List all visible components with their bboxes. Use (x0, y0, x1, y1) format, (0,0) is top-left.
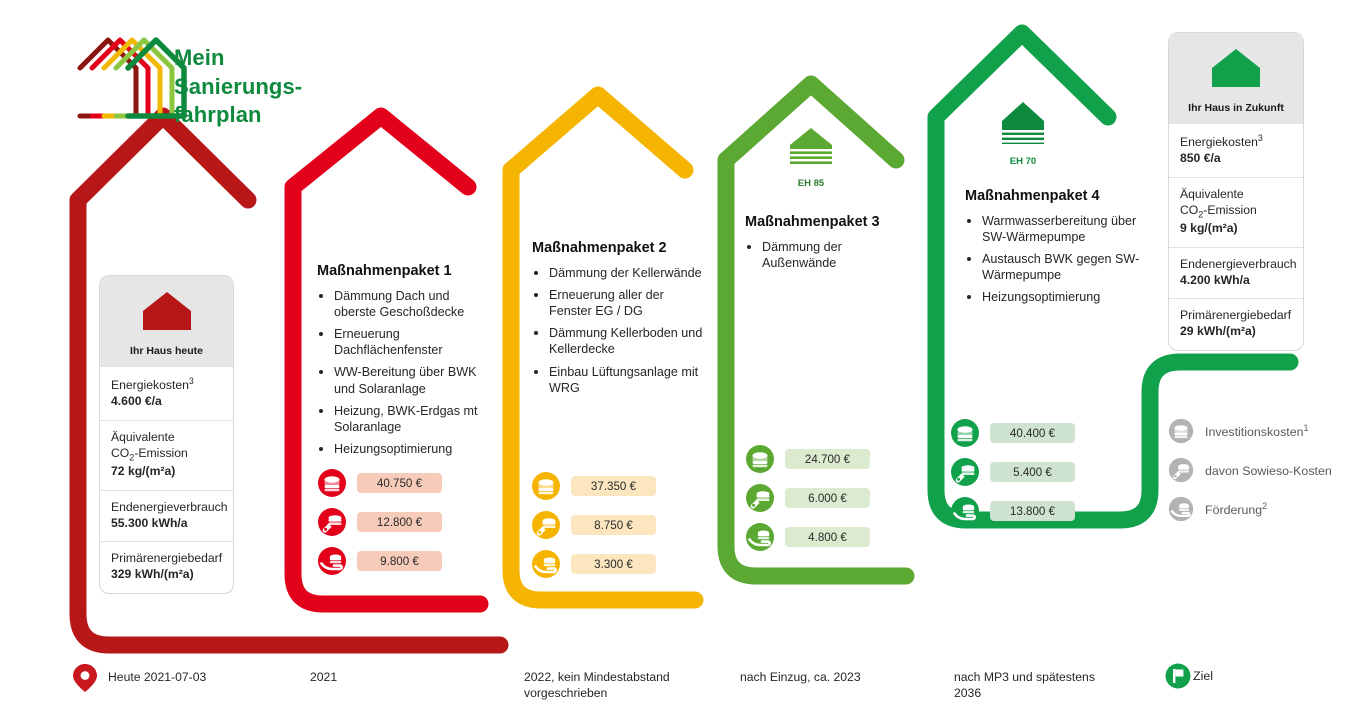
cost-row-sowieso: 5.400 € (950, 457, 1075, 487)
package-mp3: Maßnahmenpaket 3 Dämmung der Außenwände (745, 214, 910, 277)
logo-line-3: fahrplan (174, 101, 302, 130)
costs-mp3: 24.700 € 6.000 € 4.800 € (745, 444, 870, 561)
cost-row-sowieso: 12.800 € (317, 507, 442, 537)
wrench-coins-icon (745, 483, 775, 513)
row-label: Endenergieverbrauch (1180, 257, 1297, 271)
list-item: Dämmung Dach und oberste Geschoßdecke (317, 288, 482, 320)
row-label: Äquivalente (111, 430, 175, 444)
legend-label: Förderung2 (1205, 501, 1267, 517)
package-item-list: Dämmung Dach und oberste Geschoßdecke Er… (317, 288, 482, 457)
card-house-today: Ihr Haus heute Energiekosten3 4.600 €/a … (99, 275, 234, 594)
list-item: Erneuerung Dachflächenfenster (317, 326, 482, 358)
package-title: Maßnahmenpaket 2 (532, 240, 704, 256)
card-row-energiekosten: Energiekosten3 850 €/a (1169, 123, 1303, 177)
row-label-emission: -Emission (134, 446, 188, 460)
cost-row-foerderung: 13.800 € (950, 496, 1075, 526)
card-title: Ihr Haus in Zukunft (1177, 102, 1295, 114)
timeline-label-2036: nach MP3 und spätestens 2036 (954, 669, 1114, 701)
location-pin-icon (72, 663, 98, 693)
card-header: Ihr Haus heute (100, 276, 233, 366)
card-row-primaerenergie: Primärenergiebedarf 329 kWh/(m²a) (100, 541, 233, 593)
row-value: 29 kWh/(m²a) (1180, 324, 1256, 338)
list-item: Heizungsoptimierung (965, 289, 1140, 305)
legend-label-text: Förderung (1205, 503, 1262, 517)
hand-coins-icon (1168, 496, 1194, 522)
logo-text: Mein Sanierungs- fahrplan (174, 44, 302, 130)
row-label: Energiekosten (1180, 135, 1258, 149)
legend-label: davon Sowieso-Kosten (1205, 462, 1332, 478)
wrench-coins-icon (531, 510, 561, 540)
legend-item-foerderung: Förderung2 (1168, 496, 1332, 522)
timeline-label-2023: nach Einzug, ca. 2023 (740, 669, 920, 685)
row-sup: 3 (1258, 133, 1263, 143)
list-item: Heizungsoptimierung (317, 441, 482, 457)
hand-coins-icon (317, 546, 347, 576)
hand-coins-icon (950, 496, 980, 526)
striped-house-icon (787, 126, 835, 170)
cost-pill: 6.000 € (785, 488, 870, 508)
legend-label: Investitionskosten1 (1205, 423, 1308, 439)
row-value: 329 kWh/(m²a) (111, 567, 194, 581)
legend-label-sup: 1 (1304, 423, 1309, 433)
package-title: Maßnahmenpaket 1 (317, 263, 482, 279)
package-item-list: Warmwasserbereitung über SW-Wärmepumpe A… (965, 213, 1140, 306)
timeline-label-today: Heute 2021-07-03 (108, 669, 206, 685)
logo-line-1: Mein (174, 44, 302, 73)
timeline-label-2022: 2022, kein Mindestabstand vorgeschrieben (524, 669, 694, 701)
row-value: 4.200 kWh/a (1180, 273, 1250, 287)
hand-coins-icon (745, 522, 775, 552)
cost-pill: 13.800 € (990, 501, 1075, 521)
row-label-emission: -Emission (1203, 203, 1257, 217)
coins-icon (950, 418, 980, 448)
cost-row-sowieso: 8.750 € (531, 510, 656, 540)
row-label-co: CO (1180, 203, 1198, 217)
striped-house-icon (999, 100, 1047, 148)
house-icon (1210, 47, 1262, 89)
list-item: Dämmung der Kellerwände (532, 265, 704, 281)
legend-item-sowieso-kosten: davon Sowieso-Kosten (1168, 457, 1332, 483)
list-item: Austausch BWK gegen SW-Wärmepumpe (965, 251, 1140, 283)
row-value: 55.300 kWh/a (111, 516, 188, 530)
legend-item-investitionskosten: Investitionskosten1 (1168, 418, 1332, 444)
eh-label: EH 85 (771, 178, 851, 189)
card-house-future: Ihr Haus in Zukunft Energiekosten3 850 €… (1168, 32, 1304, 351)
row-sup: 3 (189, 376, 194, 386)
house-icon (141, 290, 193, 332)
list-item: Heizung, BWK-Erdgas mt Solaranlage (317, 403, 482, 435)
cost-row-sowieso: 6.000 € (745, 483, 870, 513)
logo-line-2: Sanierungs- (174, 73, 302, 102)
row-value: 4.600 €/a (111, 394, 162, 408)
row-label: Äquivalente (1180, 187, 1244, 201)
legend: Investitionskosten1 davon Sowieso-Kosten (1168, 418, 1332, 535)
package-title: Maßnahmenpaket 4 (965, 188, 1140, 204)
cost-pill: 24.700 € (785, 449, 870, 469)
list-item: Dämmung Kellerboden und Kellerdecke (532, 325, 704, 357)
card-title: Ihr Haus heute (108, 345, 225, 357)
wrench-coins-icon (950, 457, 980, 487)
card-header: Ihr Haus in Zukunft (1169, 33, 1303, 123)
logo: Mein Sanierungs- fahrplan (72, 28, 372, 138)
card-row-endenergie: Endenergieverbrauch 55.300 kWh/a (100, 490, 233, 542)
cost-row-investition: 40.400 € (950, 418, 1075, 448)
row-label: Primärenergiebedarf (1180, 308, 1291, 322)
cost-pill: 8.750 € (571, 515, 656, 535)
infographic-canvas: Mein Sanierungs- fahrplan Ihr Haus heute… (0, 0, 1366, 708)
card-row-endenergie: Endenergieverbrauch 4.200 kWh/a (1169, 247, 1303, 299)
cost-row-foerderung: 3.300 € (531, 549, 656, 579)
legend-label-text: davon Sowieso-Kosten (1205, 464, 1332, 478)
legend-label-text: Investitionskosten (1205, 425, 1304, 439)
row-label: Endenergieverbrauch (111, 500, 228, 514)
cost-row-foerderung: 9.800 € (317, 546, 442, 576)
row-label: Primärenergiebedarf (111, 551, 222, 565)
cost-pill: 40.400 € (990, 423, 1075, 443)
package-item-list: Dämmung der Außenwände (745, 239, 910, 271)
eh-badge-mp3: EH 85 (771, 126, 851, 189)
cost-pill: 40.750 € (357, 473, 442, 493)
coins-icon (317, 468, 347, 498)
cost-row-investition: 40.750 € (317, 468, 442, 498)
row-value: 9 kg/(m²a) (1180, 221, 1238, 235)
timeline-goal-label: Ziel (1193, 669, 1213, 683)
card-row-primaerenergie: Primärenergiebedarf 29 kWh/(m²a) (1169, 298, 1303, 350)
list-item: Warmwasserbereitung über SW-Wärmepumpe (965, 213, 1140, 245)
list-item: WW-Bereitung über BWK und Solaranlage (317, 364, 482, 396)
coins-icon (1168, 418, 1194, 444)
cost-row-investition: 37.350 € (531, 471, 656, 501)
list-item: Dämmung der Außenwände (745, 239, 910, 271)
eh-label: EH 70 (983, 156, 1063, 167)
eh-badge-mp4: EH 70 (983, 100, 1063, 167)
package-title: Maßnahmenpaket 3 (745, 214, 910, 230)
package-item-list: Dämmung der Kellerwände Erneuerung aller… (532, 265, 704, 396)
flag-icon (1165, 663, 1191, 689)
cost-row-foerderung: 4.800 € (745, 522, 870, 552)
hand-coins-icon (531, 549, 561, 579)
costs-mp1: 40.750 € 12.800 € 9.800 € (317, 468, 442, 585)
row-value: 72 kg/(m²a) (111, 464, 175, 478)
cost-pill: 9.800 € (357, 551, 442, 571)
costs-mp2: 37.350 € 8.750 € 3.300 € (531, 471, 656, 588)
cost-pill: 5.400 € (990, 462, 1075, 482)
cost-pill: 12.800 € (357, 512, 442, 532)
coins-icon (745, 444, 775, 474)
coins-icon (531, 471, 561, 501)
cost-row-investition: 24.700 € (745, 444, 870, 474)
legend-label-sup: 2 (1262, 501, 1267, 511)
row-value: 850 €/a (1180, 151, 1221, 165)
wrench-coins-icon (1168, 457, 1194, 483)
card-row-energiekosten: Energiekosten3 4.600 €/a (100, 366, 233, 420)
list-item: Einbau Lüftungsanlage mit WRG (532, 364, 704, 396)
cost-pill: 37.350 € (571, 476, 656, 496)
card-row-co2: Äquivalente CO2-Emission 72 kg/(m²a) (100, 420, 233, 490)
card-row-co2: Äquivalente CO2-Emission 9 kg/(m²a) (1169, 177, 1303, 247)
cost-pill: 4.800 € (785, 527, 870, 547)
list-item: Erneuerung aller der Fenster EG / DG (532, 287, 704, 319)
cost-pill: 3.300 € (571, 554, 656, 574)
timeline-label-2021: 2021 (310, 669, 337, 685)
costs-mp4: 40.400 € 5.400 € 13.800 € (950, 418, 1075, 535)
package-mp1: Maßnahmenpaket 1 Dämmung Dach und oberst… (317, 263, 482, 463)
row-label-co: CO (111, 446, 129, 460)
wrench-coins-icon (317, 507, 347, 537)
package-mp4: Maßnahmenpaket 4 Warmwasserbereitung übe… (965, 188, 1140, 312)
row-label: Energiekosten (111, 378, 189, 392)
package-mp2: Maßnahmenpaket 2 Dämmung der Kellerwände… (532, 240, 704, 402)
